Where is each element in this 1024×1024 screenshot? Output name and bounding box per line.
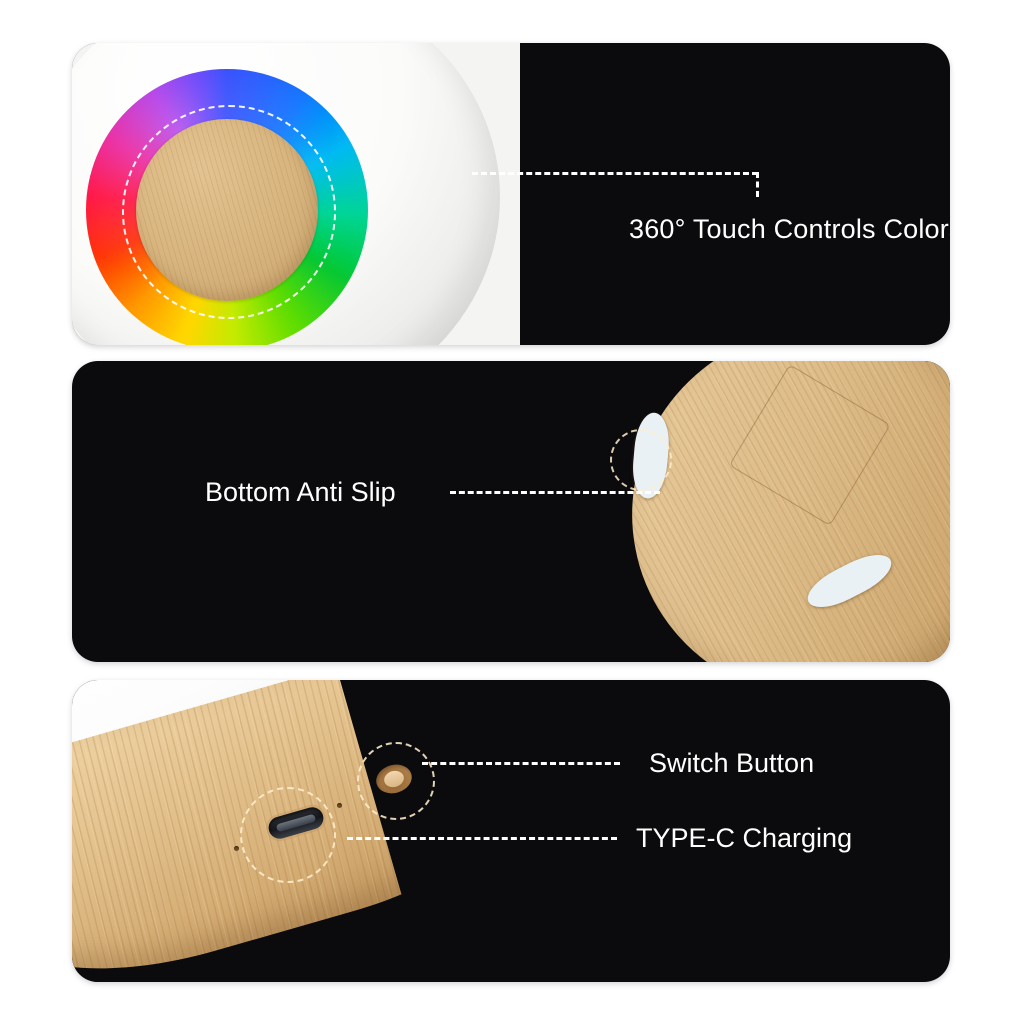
feature-label-anti-slip: Bottom Anti Slip <box>205 477 396 508</box>
anti-slip-panel: Bottom Anti Slip <box>72 361 950 662</box>
feature-label-typec-charging: TYPE-C Charging <box>636 823 852 854</box>
anti-slip-pad <box>827 361 919 362</box>
indicator-pinhole <box>337 803 342 808</box>
feature-label-touch-controls: 360° Touch Controls Colors <box>629 214 950 245</box>
anti-slip-pad <box>801 546 898 616</box>
ports-panel: Switch Button TYPE-C Charging <box>72 680 950 982</box>
dashed-circle-marker-anti-slip <box>610 429 672 491</box>
callout-line-typec <box>347 837 617 840</box>
feature-label-switch-button: Switch Button <box>649 748 814 779</box>
lamp-top-photo <box>72 43 520 345</box>
product-feature-infographic: 360° Touch Controls Colors Bottom Anti S… <box>0 0 1024 1024</box>
base-recessed-square <box>729 364 891 526</box>
lamp-base-photo <box>604 361 950 662</box>
dashed-circle-marker-switch <box>357 742 435 820</box>
callout-line-anti-slip <box>450 491 660 494</box>
callout-line-vertical <box>756 172 759 197</box>
photo-shadow-mask <box>340 680 632 970</box>
callout-line-horizontal <box>472 172 758 175</box>
callout-line-switch <box>422 762 620 765</box>
lamp-side-photo <box>72 680 632 982</box>
dashed-circle-marker-typec <box>240 787 336 883</box>
touch-controls-panel: 360° Touch Controls Colors <box>72 43 950 345</box>
dashed-circle-marker-touch <box>122 105 336 319</box>
wooden-base-underside <box>604 361 950 662</box>
indicator-pinhole <box>234 846 239 851</box>
